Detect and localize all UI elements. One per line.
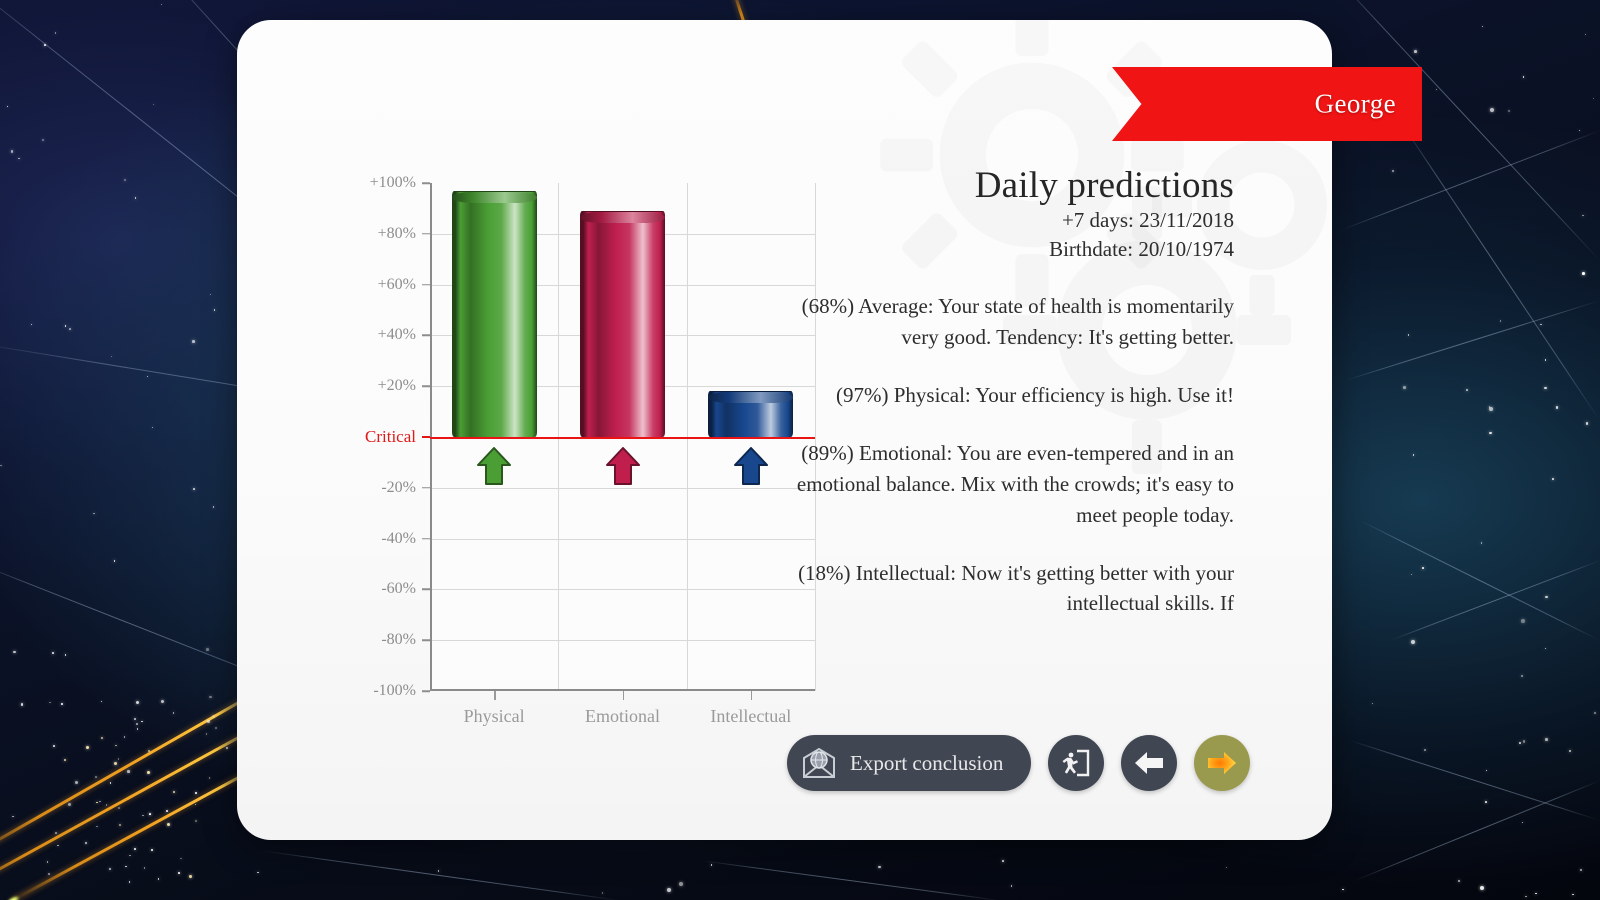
- star: [64, 759, 66, 761]
- star: [118, 807, 120, 809]
- star: [1342, 889, 1344, 891]
- star: [1002, 860, 1004, 862]
- star: [106, 804, 108, 806]
- star: [93, 513, 95, 515]
- back-button[interactable]: [1121, 735, 1177, 791]
- star: [69, 328, 71, 330]
- star: [65, 325, 67, 327]
- star: [1572, 894, 1574, 896]
- star: [214, 309, 216, 311]
- star: [158, 878, 160, 880]
- star: [667, 888, 671, 892]
- y-axis-tick-label: -100%: [373, 682, 416, 700]
- star: [13, 651, 16, 654]
- star: [48, 873, 50, 875]
- star: [1011, 885, 1013, 887]
- constellation-line: [1390, 560, 1600, 641]
- star: [110, 782, 112, 784]
- star: [129, 855, 131, 857]
- star: [215, 727, 217, 729]
- trend-arrow-physical-up: [475, 446, 513, 492]
- arrow-right-icon: [1205, 748, 1239, 778]
- trend-arrow-emotional-up: [604, 446, 642, 492]
- bar-cap: [708, 392, 793, 403]
- meteor-head: [6, 895, 21, 900]
- prediction-emotional: (89%) Emotional: You are even-tempered a…: [792, 438, 1234, 531]
- chart-plot-area: [430, 183, 815, 691]
- star: [711, 864, 713, 866]
- star: [195, 792, 197, 794]
- constellation-line: [1345, 300, 1600, 381]
- star: [18, 158, 20, 160]
- star: [1540, 324, 1542, 326]
- star: [173, 791, 175, 793]
- y-axis-tick-mark: [422, 436, 430, 438]
- star: [161, 4, 163, 6]
- star: [142, 815, 144, 817]
- star: [878, 866, 881, 869]
- star: [153, 104, 155, 106]
- star: [147, 376, 149, 378]
- user-name-banner[interactable]: George: [1112, 67, 1422, 141]
- star: [1508, 110, 1511, 113]
- star: [1466, 389, 1468, 391]
- application-window: +100%+80%+60%+40%+20%Critical-20%-40%-60…: [0, 0, 1600, 900]
- star: [134, 718, 136, 720]
- star: [47, 861, 49, 863]
- prediction-average: (68%) Average: Your state of health is m…: [792, 291, 1234, 353]
- y-axis-tick-mark: [422, 589, 430, 591]
- star: [109, 868, 111, 870]
- star: [1521, 619, 1525, 623]
- grid-line-horizontal: [430, 640, 815, 641]
- star: [1545, 738, 1548, 741]
- star: [31, 324, 33, 326]
- star: [1403, 386, 1406, 389]
- star: [602, 892, 604, 894]
- star: [111, 356, 113, 358]
- prediction-card: +100%+80%+60%+40%+20%Critical-20%-40%-60…: [237, 20, 1332, 840]
- star: [1490, 108, 1494, 112]
- y-axis-tick-label: +60%: [378, 276, 416, 294]
- star: [209, 696, 212, 699]
- star: [125, 866, 127, 868]
- constellation-line: [1399, 120, 1600, 421]
- constellation-line: [1360, 520, 1600, 641]
- star: [118, 758, 120, 760]
- star: [96, 826, 98, 828]
- star: [75, 781, 78, 784]
- star: [193, 488, 195, 490]
- star: [114, 762, 117, 765]
- star: [1500, 320, 1502, 322]
- star: [151, 849, 153, 851]
- star: [1413, 454, 1415, 456]
- star: [1545, 596, 1548, 599]
- star: [148, 750, 150, 752]
- star: [210, 294, 212, 296]
- star: [1545, 648, 1547, 650]
- meteor-trail: [10, 775, 241, 900]
- star: [1585, 34, 1587, 36]
- offset-date-line: +7 days: 23/11/2018: [792, 206, 1234, 235]
- bar-emotional: [580, 211, 665, 437]
- page-title: Daily predictions: [792, 165, 1234, 206]
- star: [1580, 869, 1583, 872]
- y-axis-tick-mark: [422, 690, 430, 692]
- prediction-intellectual: (18%) Intellectual: Now it's getting bet…: [792, 558, 1234, 620]
- star: [213, 506, 215, 508]
- constellation-line: [1355, 780, 1600, 881]
- predictions-text-panel: Daily predictions +7 days: 23/11/2018 Bi…: [792, 165, 1234, 730]
- star: [679, 882, 683, 886]
- star: [1556, 406, 1559, 409]
- star: [1489, 407, 1493, 411]
- x-axis-label-intellectual: Intellectual: [710, 706, 791, 727]
- birthdate-line: Birthdate: 20/10/1974: [792, 235, 1234, 264]
- export-conclusion-button[interactable]: Export conclusion: [787, 735, 1031, 791]
- star: [136, 723, 138, 725]
- y-axis-tick-label: -80%: [381, 631, 416, 649]
- star: [209, 777, 211, 779]
- star: [1482, 26, 1484, 28]
- y-axis-tick-mark: [422, 182, 430, 184]
- star: [49, 702, 51, 704]
- star: [161, 700, 164, 703]
- star: [1552, 478, 1554, 480]
- star: [1408, 334, 1410, 336]
- y-axis-tick-label: -40%: [381, 530, 416, 548]
- star: [124, 736, 126, 738]
- star: [86, 746, 89, 749]
- biorhythm-chart: +100%+80%+60%+40%+20%Critical-20%-40%-60…: [292, 150, 802, 730]
- star: [166, 810, 168, 812]
- star: [167, 823, 170, 826]
- star: [1226, 867, 1228, 869]
- grid-line-horizontal: [430, 589, 815, 590]
- star: [52, 652, 54, 654]
- star: [68, 803, 71, 806]
- star: [1489, 432, 1492, 435]
- star: [124, 179, 126, 181]
- exit-door-icon: [1060, 747, 1092, 779]
- star: [137, 728, 139, 730]
- star: [1586, 422, 1589, 425]
- star: [1582, 215, 1584, 217]
- star: [1436, 89, 1438, 91]
- star: [85, 842, 87, 844]
- star: [206, 733, 208, 735]
- star: [11, 150, 14, 153]
- meteor-trail: [0, 700, 241, 863]
- star: [101, 737, 103, 739]
- star: [152, 427, 154, 429]
- star: [135, 197, 137, 199]
- y-axis-tick-mark: [422, 538, 430, 540]
- star: [96, 802, 98, 804]
- star: [180, 858, 182, 860]
- constellation-line: [1340, 130, 1600, 231]
- star: [115, 745, 117, 747]
- star: [119, 824, 121, 826]
- star: [206, 648, 209, 651]
- star: [144, 867, 146, 869]
- star: [101, 701, 103, 703]
- star: [55, 832, 57, 834]
- star: [1392, 170, 1395, 173]
- trend-arrow-intellectual-up: [732, 446, 770, 492]
- constellation-line: [1350, 740, 1600, 821]
- export-conclusion-label: Export conclusion: [850, 751, 1003, 776]
- star: [1485, 801, 1487, 803]
- y-axis-tick-label: +20%: [378, 377, 416, 395]
- star: [195, 804, 197, 806]
- critical-threshold-line: [430, 437, 815, 439]
- star: [61, 703, 63, 705]
- star: [1523, 76, 1525, 78]
- next-button[interactable]: [1194, 735, 1250, 791]
- bar-cap: [580, 212, 665, 223]
- star: [147, 771, 150, 774]
- star: [1544, 387, 1547, 390]
- star: [1521, 675, 1524, 678]
- bar-physical: [452, 191, 537, 437]
- star: [189, 875, 192, 878]
- star: [1422, 567, 1424, 569]
- star: [1545, 359, 1547, 361]
- user-name-label: George: [1315, 89, 1396, 120]
- bottom-toolbar: Export conclusion: [787, 735, 1250, 791]
- star: [12, 816, 14, 818]
- star: [1414, 50, 1417, 53]
- star: [53, 745, 55, 747]
- y-axis-tick-mark: [422, 233, 430, 235]
- star: [21, 703, 24, 706]
- envelope-globe-icon: [801, 747, 837, 779]
- y-axis-tick-mark: [422, 487, 430, 489]
- star: [438, 870, 440, 872]
- star: [178, 872, 180, 874]
- star: [257, 872, 259, 874]
- star: [192, 340, 195, 343]
- critical-axis-label: Critical: [365, 427, 416, 447]
- star: [99, 801, 101, 803]
- star: [1411, 640, 1415, 644]
- star: [1411, 574, 1413, 576]
- star: [1486, 770, 1488, 772]
- y-axis-tick-mark: [422, 385, 430, 387]
- x-axis-tick-mark: [494, 691, 496, 700]
- star: [207, 720, 210, 723]
- star: [226, 747, 228, 749]
- x-axis-label-emotional: Emotional: [585, 706, 660, 727]
- star: [173, 712, 175, 714]
- star: [1522, 822, 1524, 824]
- star: [1523, 740, 1526, 743]
- star: [7, 106, 9, 108]
- star: [1535, 893, 1537, 895]
- y-axis-tick-label: +40%: [378, 326, 416, 344]
- star: [95, 776, 97, 778]
- star: [1481, 542, 1483, 544]
- x-axis-tick-mark: [623, 691, 625, 700]
- star: [1458, 880, 1461, 883]
- star: [149, 813, 151, 815]
- bar-intellectual: [708, 391, 793, 437]
- star: [1525, 896, 1527, 898]
- star: [195, 820, 197, 822]
- star: [1594, 712, 1597, 715]
- y-axis-tick-label: -60%: [381, 580, 416, 598]
- y-axis-tick-label: +80%: [378, 225, 416, 243]
- star: [1424, 749, 1427, 752]
- star: [114, 560, 116, 562]
- star: [0, 465, 2, 467]
- star: [1372, 703, 1374, 705]
- y-axis-tick-label: -20%: [381, 479, 416, 497]
- star: [1569, 750, 1572, 753]
- star: [1593, 98, 1595, 100]
- exit-button[interactable]: [1048, 735, 1104, 791]
- star: [57, 845, 59, 847]
- grid-line-horizontal: [430, 539, 815, 540]
- y-axis-tick-mark: [422, 335, 430, 337]
- arrow-left-icon: [1132, 748, 1166, 778]
- y-axis-tick-label: +100%: [370, 174, 416, 192]
- bar-cap: [452, 192, 537, 203]
- star: [1579, 130, 1581, 132]
- constellation-line: [260, 850, 620, 900]
- star: [129, 881, 131, 883]
- star: [65, 654, 67, 656]
- star: [55, 32, 57, 34]
- star: [1519, 742, 1521, 744]
- prediction-physical: (97%) Physical: Your efficiency is high.…: [792, 380, 1234, 411]
- x-axis-tick-mark: [751, 691, 753, 700]
- star: [141, 721, 143, 723]
- star: [127, 770, 130, 773]
- star: [134, 848, 136, 850]
- star: [1480, 886, 1484, 890]
- y-axis-tick-mark: [422, 639, 430, 641]
- x-axis-label-physical: Physical: [464, 706, 525, 727]
- star: [42, 139, 44, 141]
- y-axis-tick-mark: [422, 284, 430, 286]
- constellation-line: [700, 860, 1000, 900]
- star: [136, 701, 139, 704]
- star: [1582, 272, 1585, 275]
